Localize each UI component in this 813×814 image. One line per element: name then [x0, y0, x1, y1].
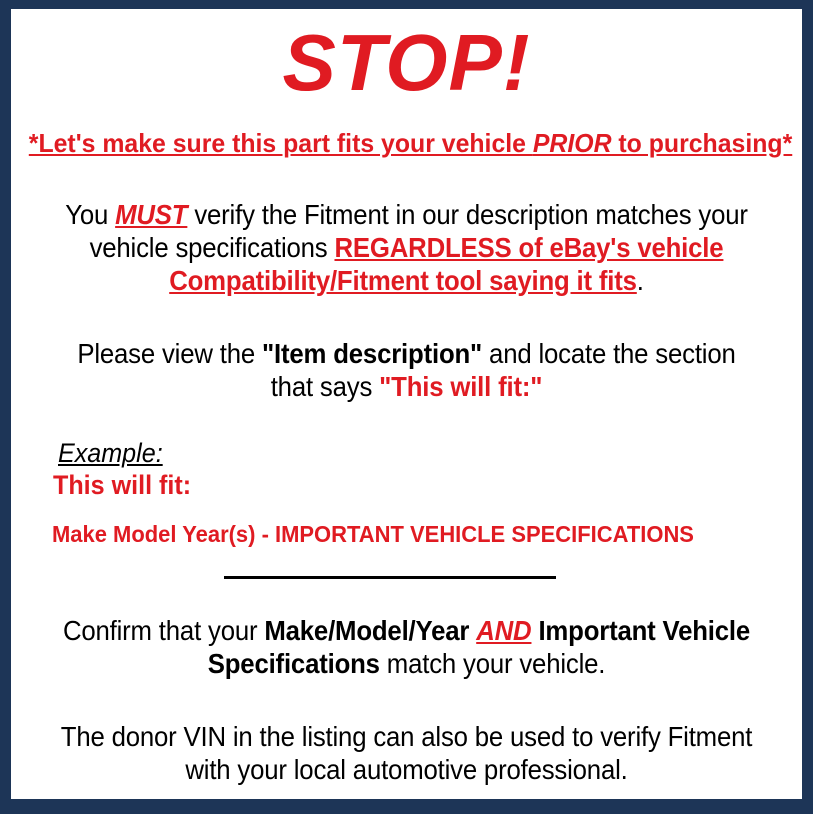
confirm-part2: match your vehicle.: [380, 648, 605, 679]
example-fit-heading: This will fit:: [53, 470, 750, 501]
subtitle-lead-text: *Let's make sure this part fits your veh…: [29, 128, 533, 158]
must-paragraph-period: .: [637, 265, 644, 296]
example-spec-line: Make Model Year(s) - IMPORTANT VEHICLE S…: [52, 521, 768, 547]
confirm-part1: Confirm that your: [63, 615, 264, 646]
confirm-paragraph: Confirm that your Make/Model/Year AND Im…: [43, 579, 771, 680]
this-will-fit-label: "This will fit:": [379, 371, 542, 402]
must-paragraph-part1: You: [65, 199, 115, 230]
item-description-paragraph: Please view the "Item description" and l…: [43, 297, 771, 403]
must-keyword: MUST: [115, 199, 187, 230]
make-model-year-emphasis: Make/Model/Year: [264, 615, 469, 646]
example-label: Example:: [58, 439, 163, 469]
fitment-notice-card: STOP! *Let's make sure this part fits yo…: [0, 0, 813, 814]
example-block: Example: This will fit: Make Model Year(…: [11, 403, 802, 548]
subtitle-banner: *Let's make sure this part fits your veh…: [29, 103, 784, 158]
itemdesc-part1: Please view the: [77, 338, 262, 369]
item-description-label: "Item description": [262, 338, 482, 369]
donor-vin-paragraph: The donor VIN in the listing can also be…: [43, 680, 771, 786]
thank-you-message: Thank you for confirming Fitment!: [39, 786, 775, 799]
subtitle-tail-text: to purchasing*: [612, 128, 793, 158]
page-title: STOP!: [11, 9, 802, 103]
confirm-space-2: [531, 615, 538, 646]
divider-wrapper: [11, 548, 802, 579]
subtitle-prior-emphasis: PRIOR: [533, 128, 612, 158]
notice-content-area: STOP! *Let's make sure this part fits yo…: [11, 9, 802, 799]
must-verify-paragraph: You MUST verify the Fitment in our descr…: [43, 158, 771, 297]
and-keyword: AND: [476, 615, 531, 646]
